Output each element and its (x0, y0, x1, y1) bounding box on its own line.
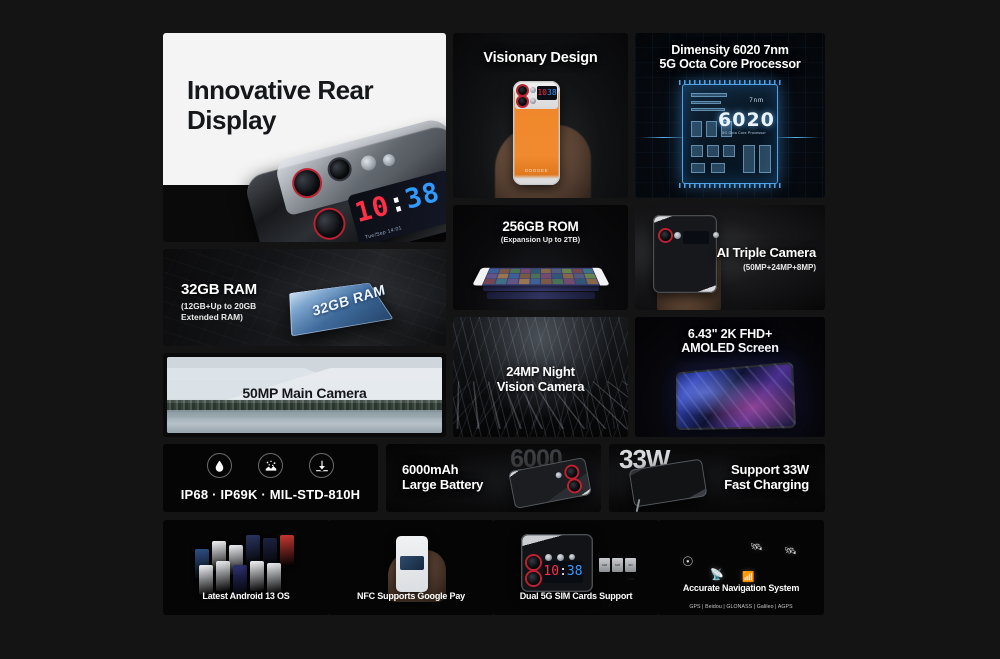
tile-dual-sim[interactable]: 10:38 SIMSIMSD Card Dual 5G SIM Cards Su… (493, 520, 659, 615)
sim-phone-image: 10:38 (521, 534, 593, 592)
tile-subtitle: (12GB+Up to 20GB Extended RAM) (181, 301, 256, 324)
media-thumbnails-image (472, 268, 610, 286)
tile-innovative-rear-display[interactable]: Innovative Rear Display 10:38 Tue/Sep 14… (163, 33, 446, 242)
tile-main-camera[interactable]: 50MP Main Camera (163, 353, 446, 437)
tile-ai-triple-camera[interactable]: AI Triple Camera (50MP+24MP+8MP) (635, 205, 825, 310)
tile-rom[interactable]: 256GB ROM (Expansion Up to 2TB) (453, 205, 628, 310)
tile-android-os[interactable]: Latest Android 13 OS (163, 520, 329, 615)
durability-icon-row (163, 453, 378, 478)
orange-phone-image: 1038 DOOGEE (513, 81, 560, 185)
landscape-phone-image (653, 215, 717, 293)
tile-title: 6000mAh Large Battery (402, 463, 483, 492)
tile-title: 256GB ROM (453, 219, 628, 234)
chip-image: 7nm 6020 5G Octa Core Processor (682, 84, 778, 184)
tile-fast-charging[interactable]: 33W Support 33W Fast Charging (609, 444, 825, 512)
tile-amoled-screen[interactable]: 6.43" 2K FHD+ AMOLED Screen (635, 317, 825, 437)
satellite-icon-1: 📡 (710, 568, 724, 581)
tile-title: AI Triple Camera (717, 246, 816, 261)
compass-icon: ☉ (682, 554, 694, 570)
tile-battery[interactable]: 6000mAh 6000mAh Large Battery (386, 444, 601, 512)
tile-title: 6.43" 2K FHD+ AMOLED Screen (635, 327, 825, 355)
tile-title: Support 33W Fast Charging (724, 463, 809, 492)
drop-resistance-icon (309, 453, 334, 478)
tile-visionary-design[interactable]: 1038 DOOGEE Visionary Design (453, 33, 628, 198)
tile-title: NFC Supports Google Pay (328, 591, 494, 601)
tile-navigation[interactable]: ☉ 📡 🛰 📶 🛰 Accurate Navigation System GPS… (658, 520, 824, 615)
tile-title: IP68 · IP69K · MIL-STD-810H (163, 488, 378, 503)
os-screens-image (195, 535, 297, 591)
brand-label: DOOGEE (513, 168, 560, 173)
amoled-display-image (676, 362, 796, 430)
tile-title: Visionary Design (453, 50, 628, 66)
water-drop-icon (207, 453, 232, 478)
tile-ram[interactable]: 32GB RAM 32GB RAM (12GB+Up to 20GB Exten… (163, 249, 446, 346)
tile-title: 32GB RAM (181, 282, 257, 299)
sim-tray-row: SIMSIMSD Card (599, 558, 636, 572)
feature-collage: Innovative Rear Display 10:38 Tue/Sep 14… (0, 0, 1000, 659)
tile-title: 24MP Night Vision Camera (453, 365, 628, 394)
satellite-icons-group: ☉ 📡 🛰 📶 🛰 (658, 520, 824, 615)
mini-clock: 1038 (537, 86, 557, 100)
tile-nfc[interactable]: NFC Supports Google Pay (328, 520, 494, 615)
chip-node-label: 7nm (749, 98, 764, 104)
tile-processor[interactable]: 7nm 6020 5G Octa Core Processor Dimensit… (635, 33, 825, 198)
sim-phone-clock: 10:38 (543, 561, 583, 583)
dust-proof-icon (258, 453, 283, 478)
tile-title: Dimensity 6020 7nm 5G Octa Core Processo… (635, 43, 825, 71)
chip-sub-label: 5G Octa Core Processor (718, 131, 770, 135)
tile-subtitle: GPS | Beidou | GLONASS | Galileo | AGPS (658, 604, 824, 610)
tile-durability[interactable]: IP68 · IP69K · MIL-STD-810H (163, 444, 378, 512)
tile-subtitle: (50MP+24MP+8MP) (743, 263, 816, 272)
tile-title: Latest Android 13 OS (163, 591, 329, 601)
satellite-icon-4: 🛰 (784, 546, 797, 557)
tile-title: Accurate Navigation System (658, 583, 824, 593)
tile-subtitle: (Expansion Up to 2TB) (453, 236, 628, 245)
tile-night-vision-camera[interactable]: 24MP Night Vision Camera (453, 317, 628, 437)
storage-layer-back (487, 292, 595, 299)
tile-title: Dual 5G SIM Cards Support (493, 591, 659, 601)
nfc-phone-image (396, 536, 428, 592)
satellite-icon-3: 📶 (742, 572, 754, 583)
tile-title: 50MP Main Camera (163, 386, 446, 402)
satellite-icon-2: 🛰 (750, 542, 763, 553)
chip-model-label: 6020 (718, 109, 770, 131)
